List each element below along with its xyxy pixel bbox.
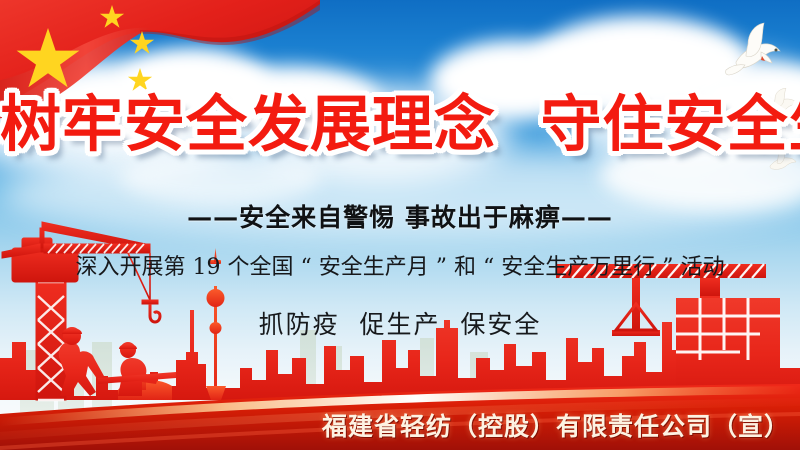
- dove-icon-large: [718, 22, 790, 84]
- poster-subtitle: ——安全来自警惕 事故出于麻痹——: [0, 198, 800, 234]
- safety-poster: 树牢安全发展理念 守住安全生产底线 ——安全来自警惕 事故出于麻痹—— 深入开展…: [0, 0, 800, 450]
- poster-footer-organization: 福建省轻纺（控股）有限责任公司（宣）: [0, 407, 790, 443]
- poster-title: 树牢安全发展理念 守住安全生产底线: [0, 94, 800, 156]
- poster-line-campaign: 深入开展第 19 个全国 “ 安全生产月 ” 和 “ 安全生产万里行 ” 活动: [0, 249, 800, 281]
- poster-line-slogan: 抓防疫 促生产 保安全: [0, 305, 800, 341]
